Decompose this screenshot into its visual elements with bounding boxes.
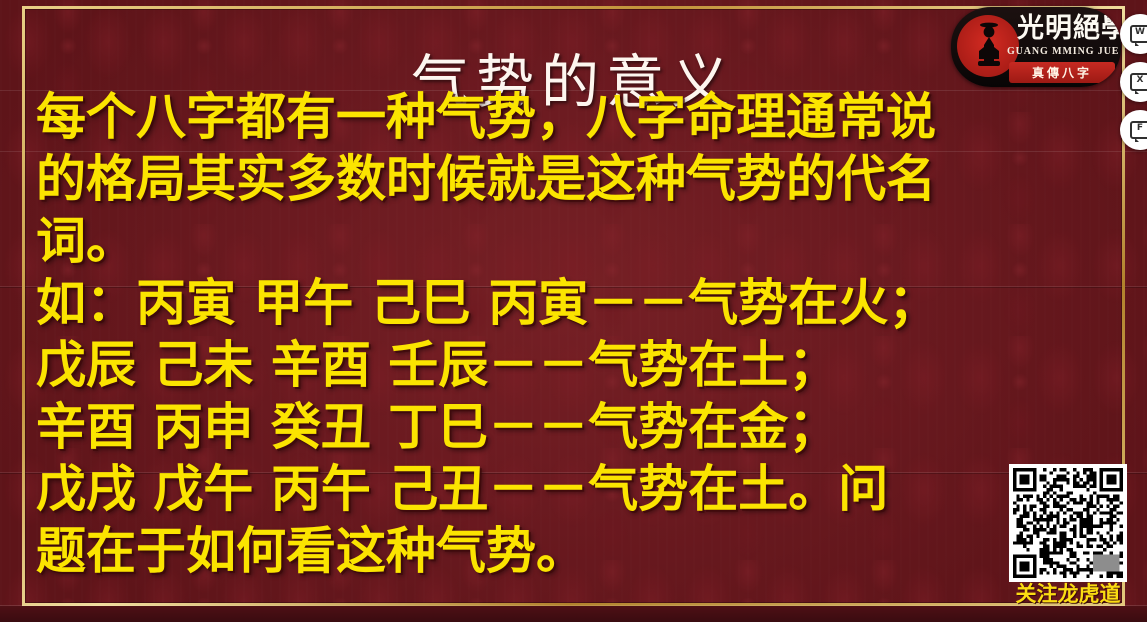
brand-logo: 光明絕學 GUANG MMING JUE XUE 真傳八字 bbox=[951, 7, 1121, 87]
weibo-bubble-icon: X bbox=[1130, 73, 1147, 91]
body-line: 辛酉 丙申 癸丑 丁巳－－气势在金； bbox=[36, 396, 1036, 458]
wechat-bubble-icon: W bbox=[1130, 25, 1147, 43]
qr-code-block[interactable]: 关注龙虎道 bbox=[1001, 464, 1135, 604]
logo-seated-figure-icon bbox=[977, 21, 1001, 73]
body-line: 如：丙寅 甲午 己巳 丙寅－－气势在火； bbox=[36, 272, 1036, 334]
body-line: 的格局其实多数时候就是这种气势的代名 bbox=[36, 148, 1036, 210]
logo-ribbon: 真傳八字 bbox=[1009, 62, 1115, 83]
body-line: 戊辰 己未 辛酉 壬辰－－气势在土； bbox=[36, 334, 1036, 396]
more-bubble-icon: F bbox=[1130, 121, 1147, 139]
bottom-band bbox=[0, 606, 1147, 622]
body-line: 词。 bbox=[36, 210, 1036, 272]
logo-name-text: 光明絕學 bbox=[1017, 13, 1117, 45]
body-line: 戊戌 戊午 丙午 己丑－－气势在土。问 bbox=[36, 458, 1036, 520]
qr-code-canvas bbox=[1013, 468, 1123, 578]
body-line: 每个八字都有一种气势，八字命理通常说 bbox=[36, 86, 1036, 148]
qr-code-caption: 关注龙虎道 bbox=[1001, 582, 1135, 606]
logo-pinyin-text: GUANG MMING JUE XUE bbox=[1007, 46, 1119, 58]
logo-ribbon-text: 真傳八字 bbox=[1032, 64, 1092, 81]
body-line: 题在于如何看这种气势。 bbox=[36, 520, 1036, 582]
presentation-slide: 气势的意义 每个八字都有一种气势，八字命理通常说 的格局其实多数时候就是这种气势… bbox=[0, 0, 1147, 622]
slide-body-text: 每个八字都有一种气势，八字命理通常说 的格局其实多数时候就是这种气势的代名 词。… bbox=[36, 86, 1036, 582]
qr-code-image[interactable] bbox=[1009, 464, 1127, 582]
